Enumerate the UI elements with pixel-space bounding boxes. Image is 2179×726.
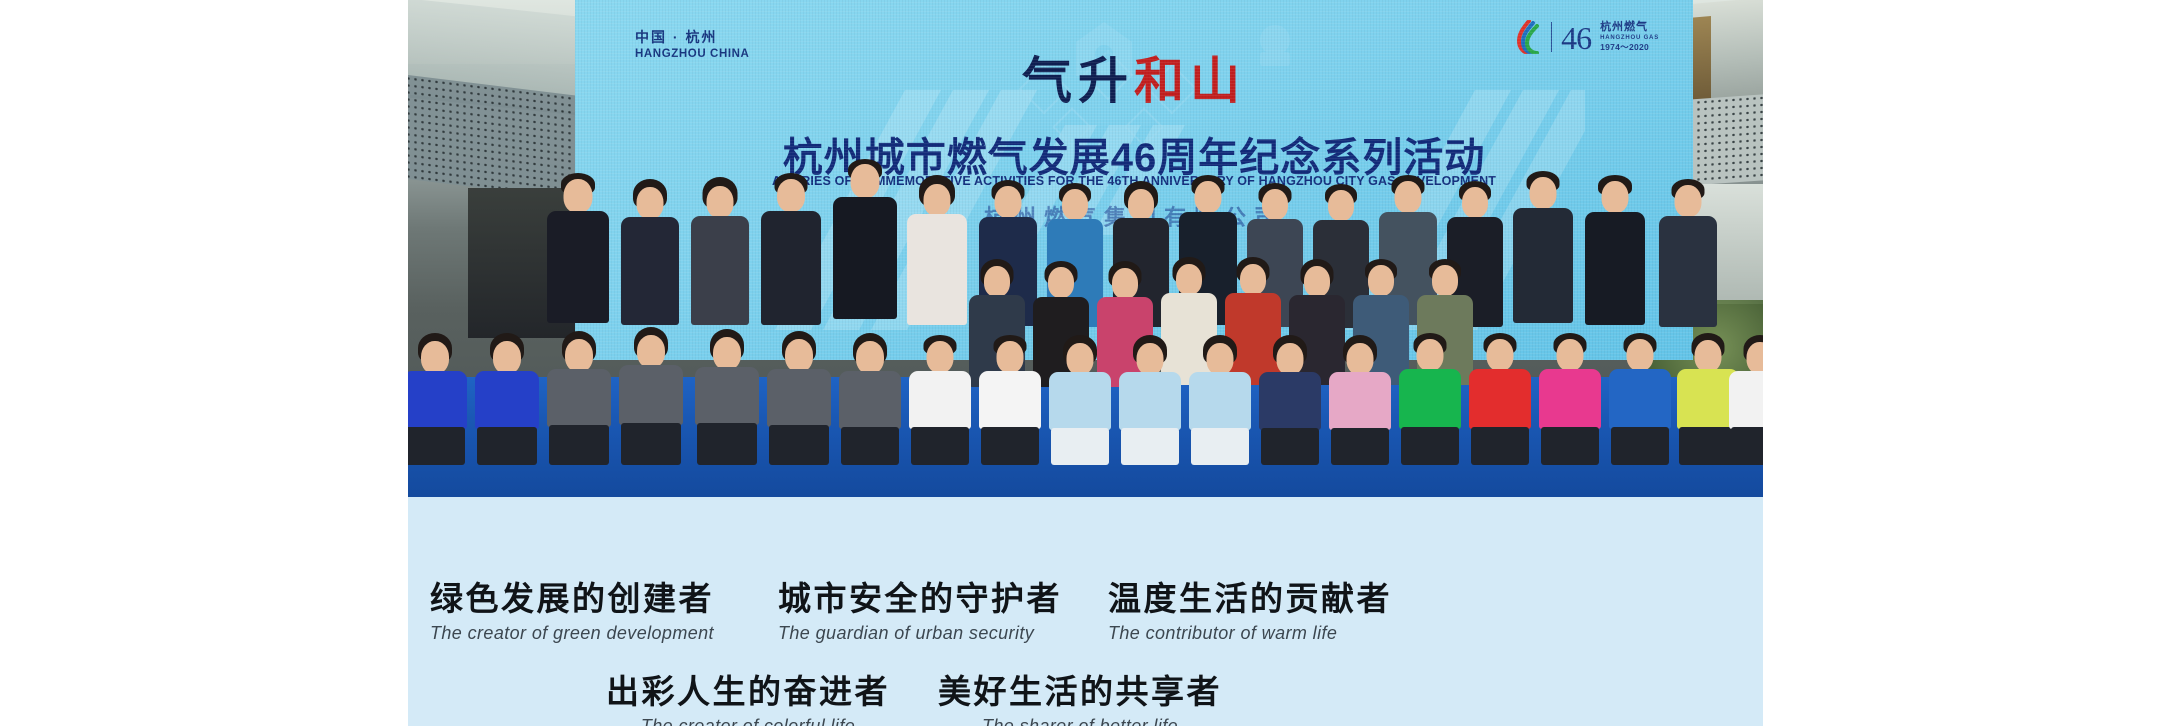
brand-years: 1974～2020 (1600, 42, 1659, 53)
person (1118, 335, 1182, 465)
slogan-en: The guardian of urban security (778, 624, 1062, 644)
slogan-en: The contributor of warm life (1108, 624, 1392, 644)
person (1328, 335, 1392, 465)
person (838, 333, 902, 465)
hangzhou-gas-logo: 46 杭州燃气 HANGZHOU GAS 1974～2020 (1516, 20, 1659, 54)
slogan-cn: 美好生活的共享者 (938, 674, 1222, 710)
crowd-of-people (408, 141, 1763, 471)
slogan-en: The creator of colorful life (606, 717, 890, 726)
slogan-cn: 出彩人生的奋进者 (606, 674, 890, 710)
slogan-item-5: 美好生活的共享者 The sharer of better life (938, 674, 1222, 726)
person (1468, 333, 1532, 465)
logo-divider (1551, 22, 1553, 52)
person (1728, 335, 1763, 465)
brand-name-cn: 杭州燃气 (1600, 21, 1659, 35)
person (694, 329, 760, 465)
logotype-dark-part: 气升 (1022, 53, 1134, 109)
slogan-cn: 城市安全的守护者 (778, 581, 1062, 617)
content-column: 中国 · 杭州 HANGZHOU CHINA 46 杭州燃气 HANGZHOU … (408, 0, 1763, 726)
anniversary-number: 46 (1561, 22, 1591, 54)
flame-icon (1516, 20, 1542, 54)
person (1398, 333, 1462, 465)
person (546, 331, 612, 465)
banner-page: 中国 · 杭州 HANGZHOU CHINA 46 杭州燃气 HANGZHOU … (0, 0, 2179, 726)
group-photo: 中国 · 杭州 HANGZHOU CHINA 46 杭州燃气 HANGZHOU … (408, 0, 1763, 497)
person (1188, 335, 1252, 465)
slogan-panel: 绿色发展的创建者 The creator of green developmen… (408, 497, 1763, 726)
slogan-cn: 温度生活的贡献者 (1108, 581, 1392, 617)
person (1538, 333, 1602, 465)
person (1048, 335, 1112, 465)
slogan-item-1: 绿色发展的创建者 The creator of green developmen… (430, 581, 714, 644)
person (1608, 333, 1672, 465)
person (978, 335, 1042, 465)
person (618, 327, 684, 465)
slogan-item-3: 温度生活的贡献者 The contributor of warm life (1108, 581, 1392, 644)
brand-name-en: HANGZHOU GAS (1600, 35, 1659, 43)
person (1258, 335, 1322, 465)
slogan-en: The creator of green development (430, 624, 714, 644)
person (474, 333, 540, 465)
person (908, 335, 972, 465)
person (408, 333, 468, 465)
logotype-red-part: 和山 (1134, 53, 1246, 109)
person (766, 331, 832, 465)
slogan-item-2: 城市安全的守护者 The guardian of urban security (778, 581, 1062, 644)
event-logotype: 气升和山 (575, 56, 1693, 106)
slogan-en: The sharer of better life (938, 717, 1222, 726)
slogan-cn: 绿色发展的创建者 (430, 581, 714, 617)
location-label-cn: 中国 · 杭州 (635, 28, 749, 47)
slogan-item-4: 出彩人生的奋进者 The creator of colorful life (606, 674, 890, 726)
brand-text-block: 杭州燃气 HANGZHOU GAS 1974～2020 (1600, 21, 1659, 53)
